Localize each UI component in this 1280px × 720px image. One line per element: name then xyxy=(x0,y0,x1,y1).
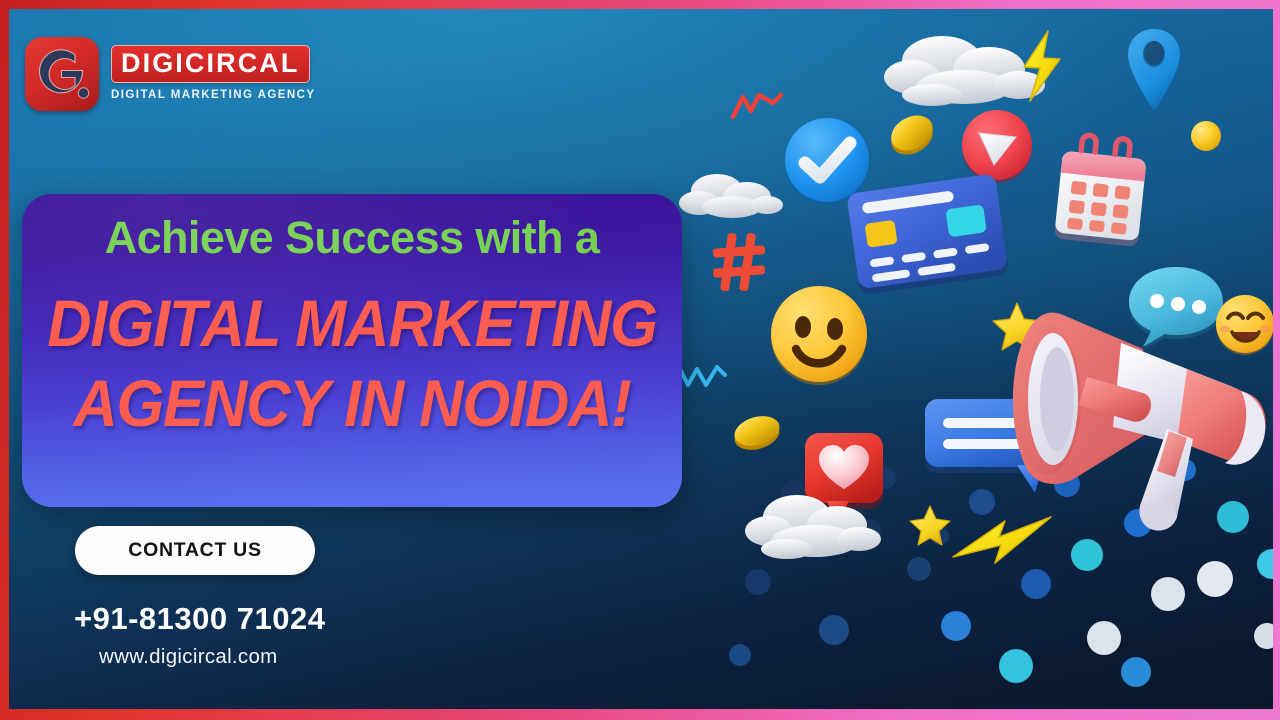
brand-logo[interactable]: DIGICIRCAL DIGITAL MARKETING AGENCY xyxy=(25,37,316,111)
website-url[interactable]: www.digicircal.com xyxy=(99,645,278,669)
location-pin-icon xyxy=(1122,23,1186,124)
logo-wordmark: DIGICIRCAL DIGITAL MARKETING AGENCY xyxy=(111,37,316,101)
smiley-emoji-icon xyxy=(764,279,874,394)
hashtag-icon xyxy=(709,227,769,302)
calendar-icon xyxy=(1047,127,1157,262)
phone-number[interactable]: +91-81300 71024 xyxy=(74,601,325,637)
contact-us-button[interactable]: CONTACT US xyxy=(75,526,315,575)
gold-coin-icon-left xyxy=(729,409,787,458)
headline-line-2: DIGITAL MARKETING xyxy=(45,290,659,356)
megaphone-icon xyxy=(1001,281,1273,566)
digicircal-g-monogram-icon xyxy=(25,37,99,111)
brand-tagline: DIGITAL MARKETING AGENCY xyxy=(111,89,316,101)
blue-squiggle-icon xyxy=(675,357,729,400)
brand-name: DIGICIRCAL xyxy=(121,50,300,77)
hero-illustration xyxy=(669,9,1273,709)
cloud-icon-bottom xyxy=(741,487,889,572)
contact-us-label: CONTACT US xyxy=(128,539,261,562)
promotional-banner: DIGICIRCAL DIGITAL MARKETING AGENCY xyxy=(0,0,1280,720)
lightning-bolt-icon-top xyxy=(1014,27,1070,112)
gold-coin-icon-top xyxy=(884,109,940,162)
headline-line-3: AGENCY IN NOIDA! xyxy=(45,370,659,436)
headline-line-1: Achieve Success with a xyxy=(22,214,682,261)
banner-inner-canvas: DIGICIRCAL DIGITAL MARKETING AGENCY xyxy=(9,9,1273,709)
brand-name-badge: DIGICIRCAL xyxy=(111,45,310,83)
yellow-sphere-icon xyxy=(1189,119,1223,158)
headline-card: Achieve Success with a DIGITAL MARKETING… xyxy=(22,194,682,507)
